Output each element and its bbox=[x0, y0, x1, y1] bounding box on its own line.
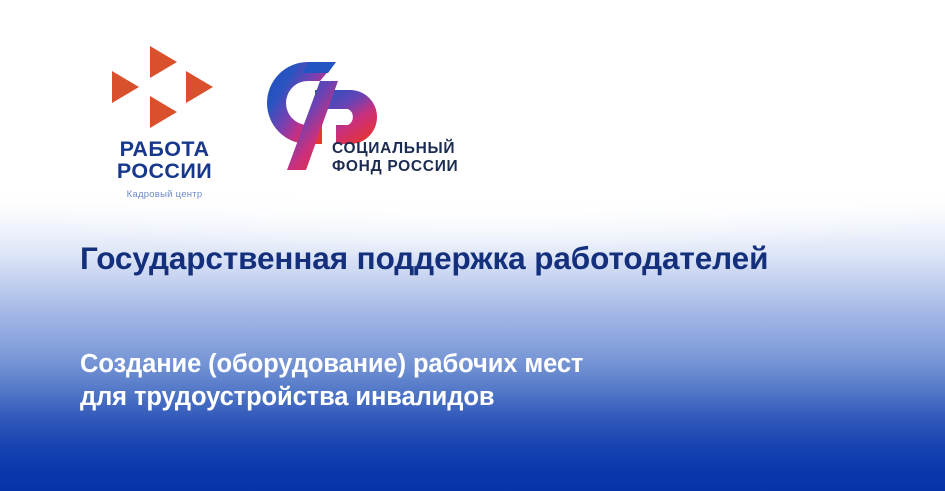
sfr-title-line2: ФОНД РОССИИ bbox=[332, 158, 458, 176]
rabota-rossii-logo: РАБОТА РОССИИ Кадровый центр bbox=[92, 46, 237, 194]
page-title: Государственная поддержка работодателей bbox=[80, 239, 768, 277]
socialny-fond-rossii-title: СОЦИАЛЬНЫЙ ФОНД РОССИИ bbox=[332, 140, 458, 176]
triangle-left-icon bbox=[112, 71, 139, 103]
triangle-bottom-icon bbox=[150, 96, 177, 128]
sfr-title-line1: СОЦИАЛЬНЫЙ bbox=[332, 140, 455, 157]
triangle-right-icon bbox=[186, 71, 213, 103]
triangle-top-icon bbox=[150, 46, 177, 78]
rabota-rossii-pinwheel-icon bbox=[112, 46, 217, 128]
rabota-rossii-title: РАБОТА РОССИИ bbox=[92, 138, 237, 182]
rabota-rossii-title-line2: РОССИИ bbox=[92, 160, 237, 182]
page-subtitle-line2: для трудоустройства инвалидов bbox=[80, 381, 583, 414]
page-subtitle-line1: Создание (оборудование) рабочих мест bbox=[80, 350, 583, 378]
rabota-rossii-tagline: Кадровый центр bbox=[92, 189, 237, 200]
logo-bar: РАБОТА РОССИИ Кадровый центр bbox=[0, 0, 945, 196]
presentation-slide: РАБОТА РОССИИ Кадровый центр bbox=[0, 0, 945, 491]
rabota-rossii-title-line1: РАБОТА bbox=[120, 137, 210, 161]
socialny-fond-rossii-logo: СОЦИАЛЬНЫЙ ФОНД РОССИИ bbox=[258, 52, 468, 187]
page-subtitle: Создание (оборудование) рабочих мест для… bbox=[80, 348, 583, 414]
